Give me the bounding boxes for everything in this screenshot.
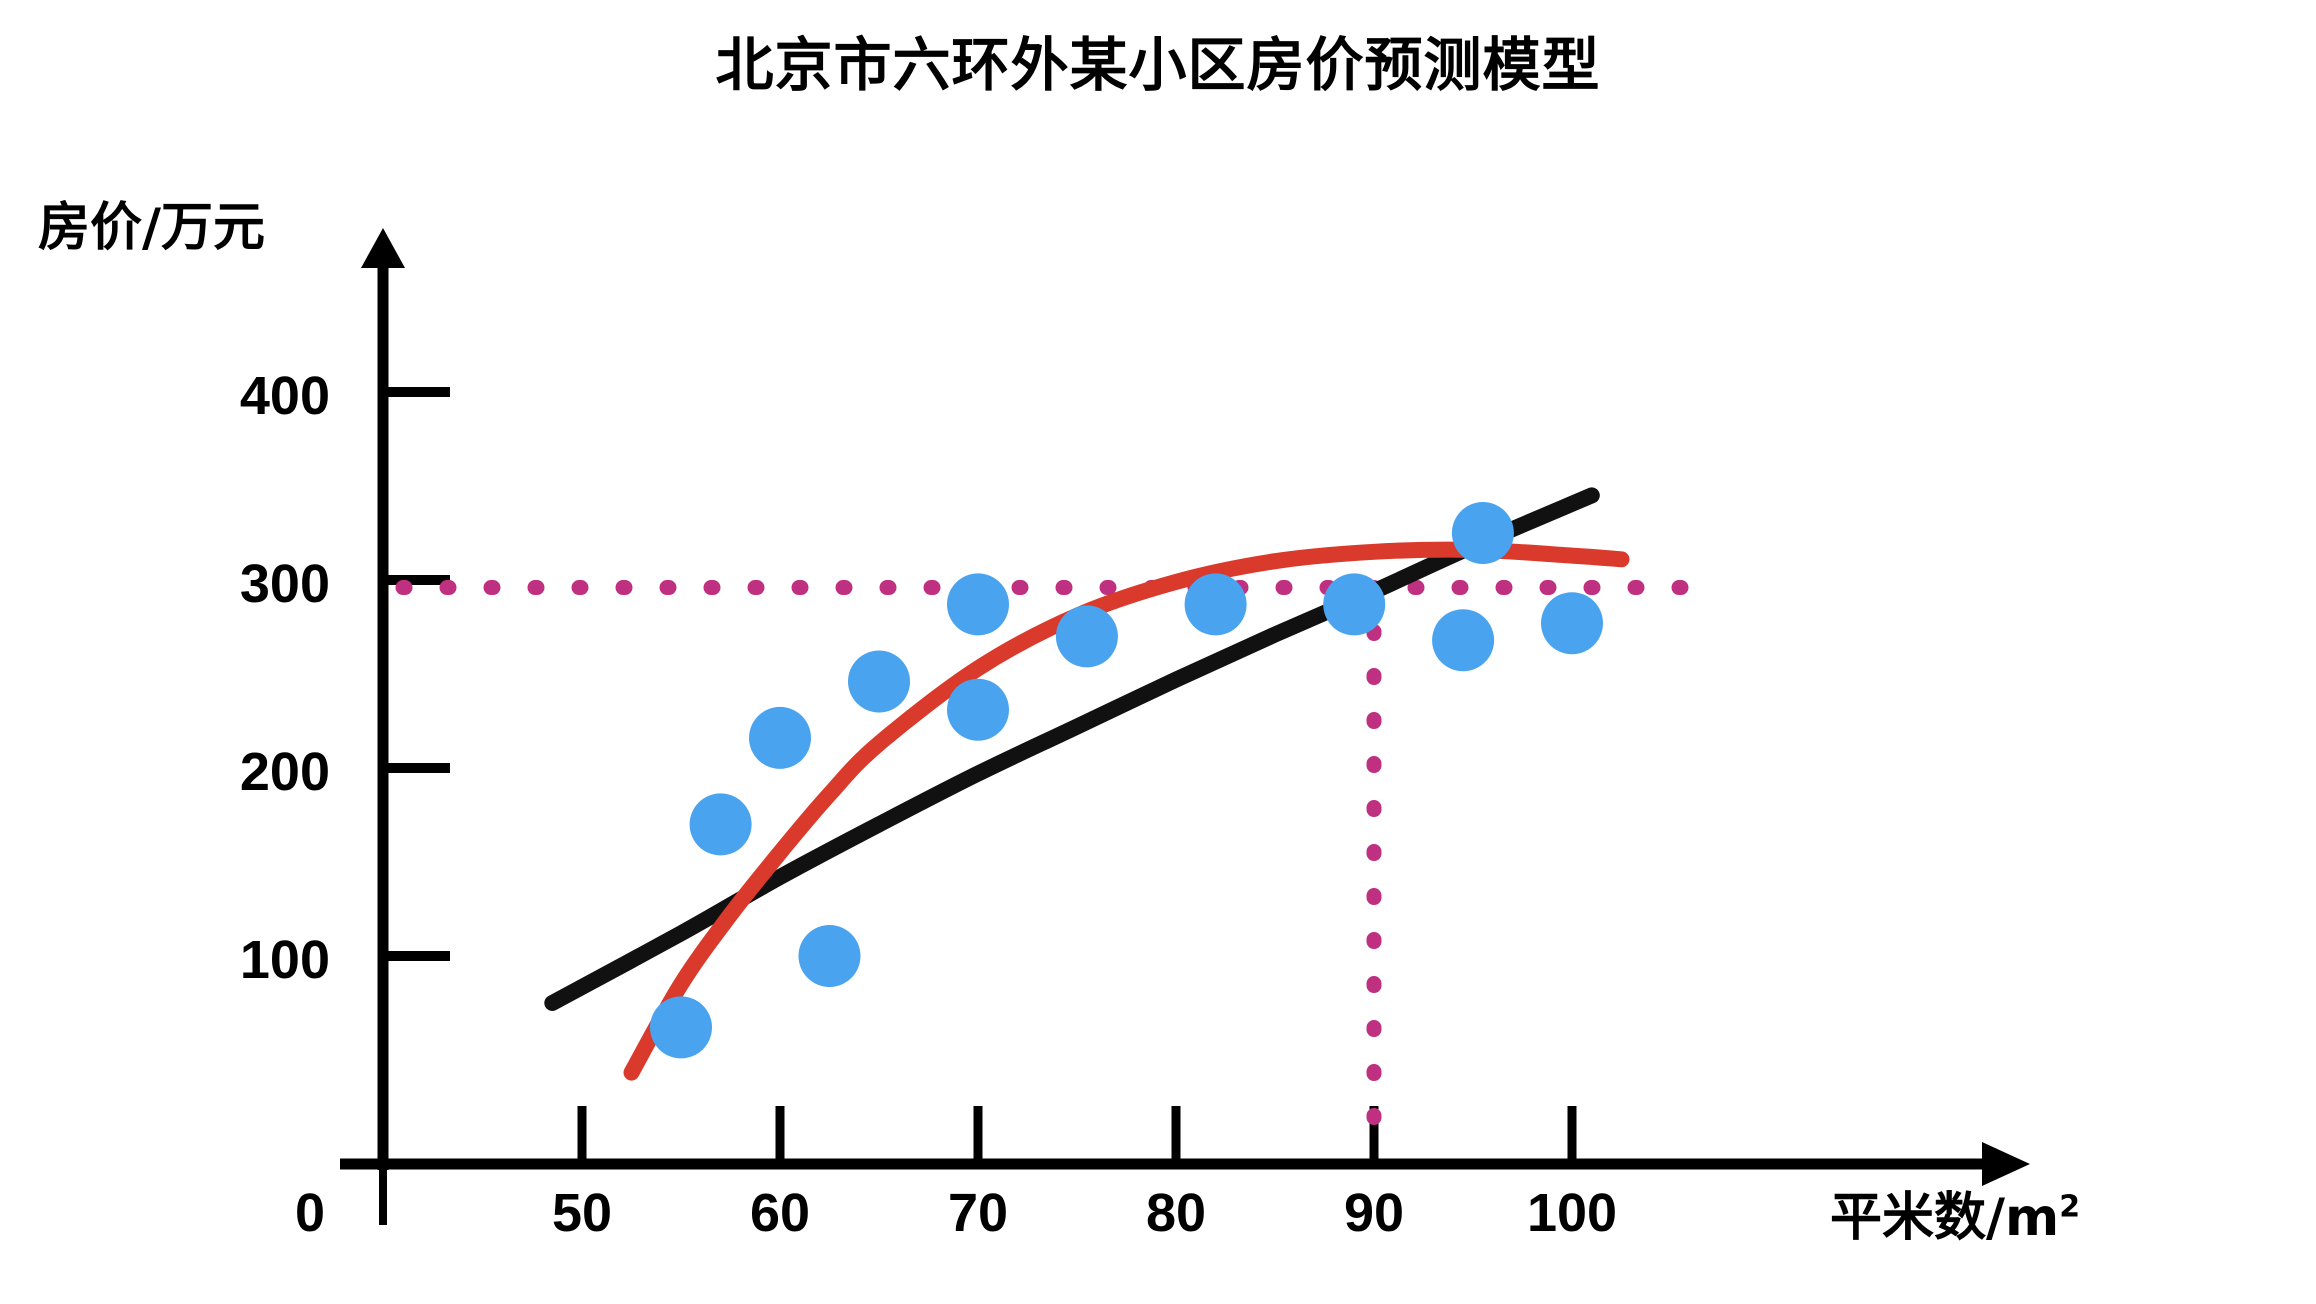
scatter-point [690, 793, 752, 855]
x-axis-ticks [582, 1106, 1572, 1164]
scatter-point [947, 573, 1009, 635]
x-axis-arrowhead [1982, 1142, 2030, 1186]
scatter-point [1323, 573, 1385, 635]
linear-fit-line [552, 495, 1592, 1003]
scatter-point [799, 925, 861, 987]
scatter-point [1432, 609, 1494, 671]
chart-canvas: 北京市六环外某小区房价预测模型 房价/万元 平米数/m2 0 400 300 2… [0, 0, 2316, 1304]
scatter-point [1452, 502, 1514, 564]
plot-area [0, 0, 2316, 1304]
scatter-point [848, 651, 910, 713]
scatter-point [1541, 592, 1603, 654]
guide-lines [403, 588, 1690, 1118]
scatter-point [650, 996, 712, 1058]
scatter-point [1185, 573, 1247, 635]
scatter-point [947, 679, 1009, 741]
scatter-point [749, 707, 811, 769]
axes [340, 228, 2030, 1225]
scatter-point [1056, 605, 1118, 667]
y-axis-ticks [383, 392, 450, 956]
